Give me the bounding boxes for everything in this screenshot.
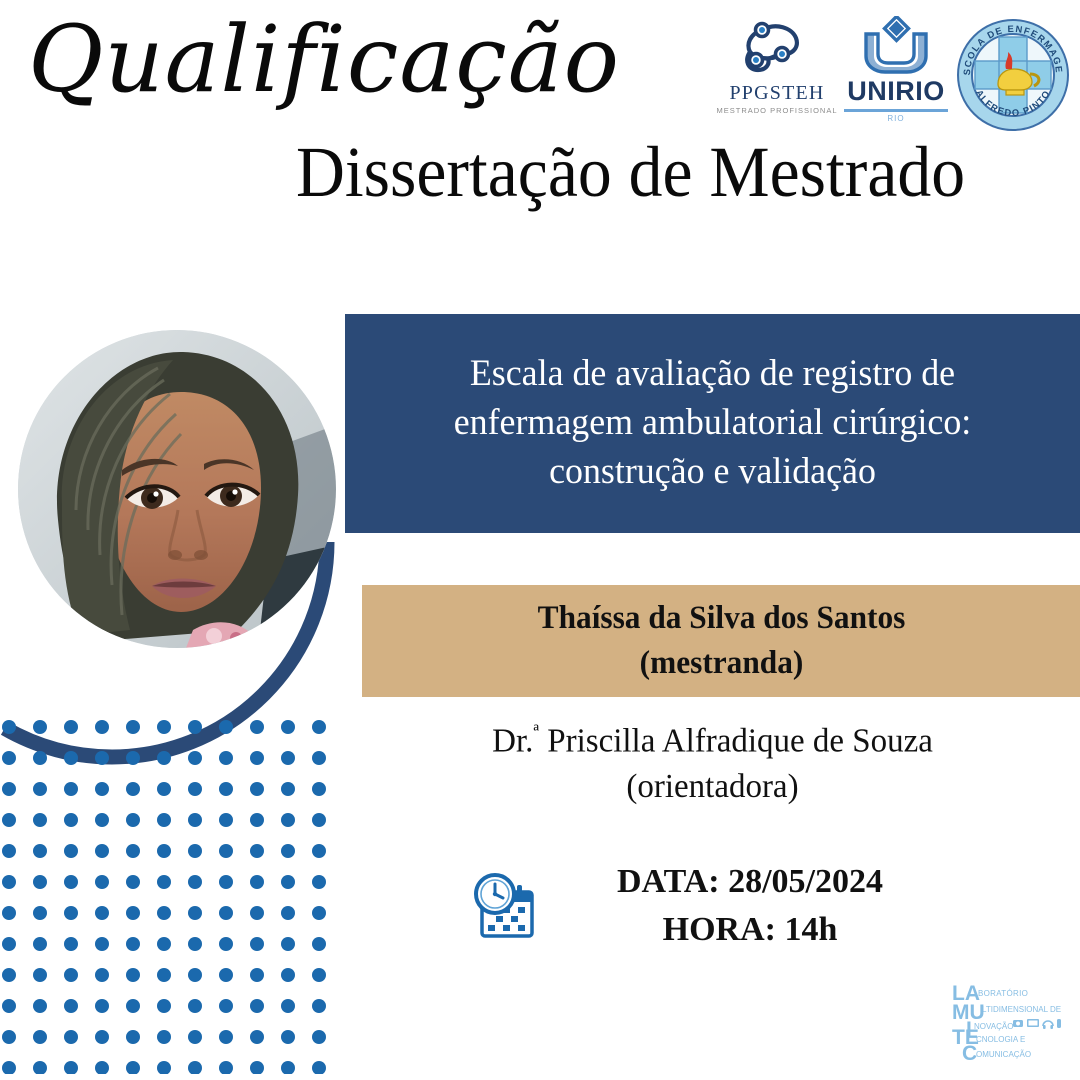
calendar-clock-icon <box>470 870 542 942</box>
advisor-prefix: Dr. <box>492 722 533 759</box>
lamitec-c: C <box>962 1042 977 1065</box>
unirio-rule <box>844 109 948 112</box>
logo-row: PPGSTEH MESTRADO PROFISSIONAL UNIRIO RIO <box>716 16 1072 140</box>
thesis-title: Escala de avaliação de registro de enfer… <box>356 350 1069 496</box>
unirio-sub: RIO <box>844 114 948 121</box>
datetime-text: DATA: 28/05/2024 HORA: 14h <box>560 858 940 955</box>
lamitec-wordmark-icon: LA BORATÓRIO MU LTIDIMENSIONAL DE I NOVA… <box>944 974 1062 1066</box>
portrait-photo <box>18 330 336 648</box>
page-title-script: Qualificação <box>28 14 620 106</box>
unirio-name: UNIRIO <box>844 78 948 105</box>
page-subtitle: Dissertação de Mestrado <box>296 136 965 208</box>
ppgsteh-tagline: MESTRADO PROFISSIONAL <box>716 106 838 115</box>
lamitec-cnologia: CNOLOGIA E <box>976 1035 1025 1044</box>
thesis-title-box: Escala de avaliação de registro de enfer… <box>345 314 1080 533</box>
poster-canvas: Qualificação Dissertação de Mestrado <box>0 0 1080 1080</box>
student-name: Thaíssa da Silva dos Santos <box>537 596 905 641</box>
lamitec-inovacao: NOVAÇÃO <box>974 1022 1013 1031</box>
student-name-banner: Thaíssa da Silva dos Santos (mestranda) <box>362 585 1080 697</box>
event-datetime-block: DATA: 28/05/2024 HORA: 14h <box>470 858 940 955</box>
ppgsteh-name: PPGSTEH <box>716 83 838 103</box>
advisor-line: Dr.ª Priscilla Alfradique de Souza <box>356 718 1069 764</box>
nursing-school-seal-icon: • ESCOLA DE ENFERMAGEM • ALFREDO PINTO <box>954 16 1072 134</box>
escola-enfermagem-seal: • ESCOLA DE ENFERMAGEM • ALFREDO PINTO <box>954 16 1072 134</box>
unirio-logo: UNIRIO RIO <box>844 16 948 121</box>
unirio-emblem-icon <box>844 16 948 78</box>
ppgsteh-logo: PPGSTEH MESTRADO PROFISSIONAL <box>716 16 838 115</box>
advisor-role: (orientadora) <box>356 764 1069 810</box>
lamitec-ltidimensional: LTIDIMENSIONAL DE <box>982 1005 1061 1014</box>
student-name-text: Thaíssa da Silva dos Santos (mestranda) <box>537 596 905 685</box>
ppgsteh-network-icon <box>716 16 838 82</box>
lamitec-omunicacao: OMUNICAÇÃO <box>976 1050 1031 1059</box>
event-date: DATA: 28/05/2024 <box>560 858 940 906</box>
avatar <box>18 330 336 648</box>
student-role: (mestranda) <box>537 641 905 686</box>
event-time: HORA: 14h <box>560 906 940 954</box>
decorative-dot-grid <box>0 718 340 1080</box>
lamitec-logo: LA BORATÓRIO MU LTIDIMENSIONAL DE I NOVA… <box>944 974 1062 1066</box>
advisor-block: Dr.ª Priscilla Alfradique de Souza (orie… <box>356 718 1069 810</box>
advisor-name: Priscilla Alfradique de Souza <box>539 722 933 759</box>
lamitec-boratorio: BORATÓRIO <box>978 989 1028 998</box>
lamitec-device-icons <box>1013 1019 1061 1029</box>
